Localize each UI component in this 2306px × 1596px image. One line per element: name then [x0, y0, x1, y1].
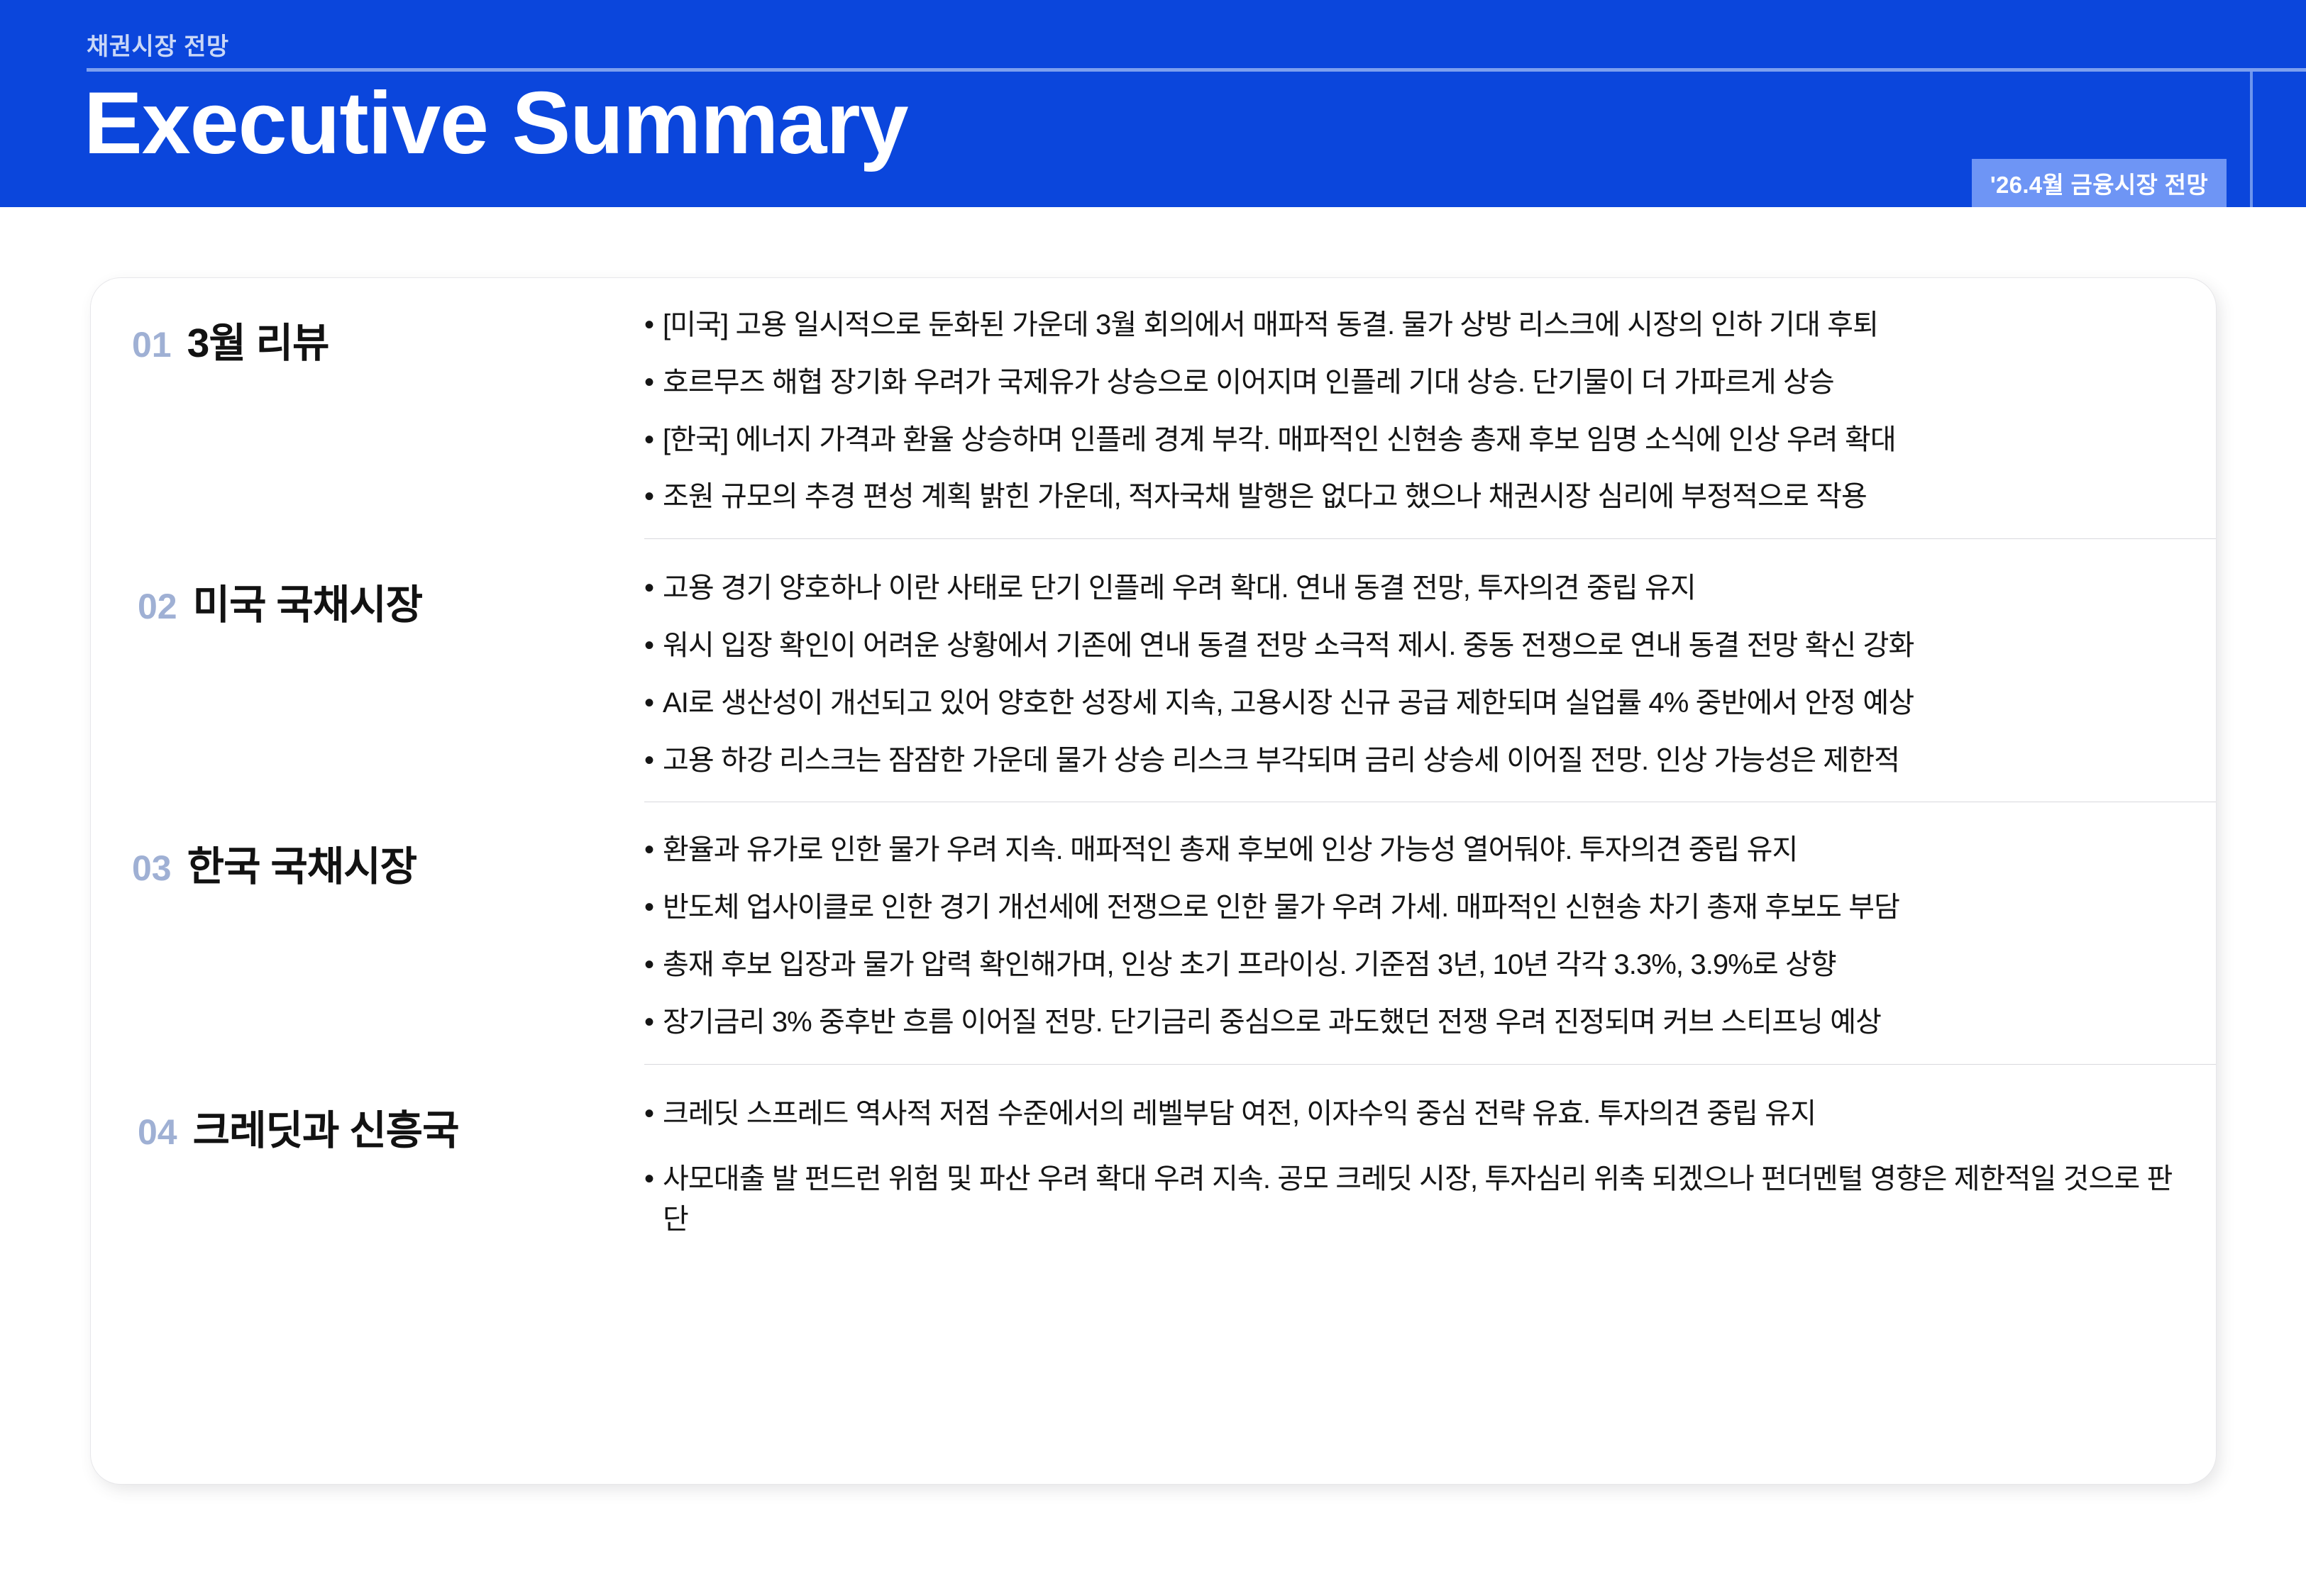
- bullet-dot-icon: •: [644, 945, 663, 985]
- bullet-dot-icon: •: [644, 305, 663, 345]
- bullet-text: 장기금리 3% 중후반 흐름 이어질 전망. 단기금리 중심으로 과도했던 전쟁…: [663, 1002, 2192, 1043]
- bullet-item: • 장기금리 3% 중후반 흐름 이어질 전망. 단기금리 중심으로 과도했던 …: [644, 1002, 2192, 1043]
- bullet-item: • 호르무즈 해협 장기화 우려가 국제유가 상승으로 이어지며 인플레 기대 …: [644, 362, 2192, 403]
- section-header-04: 04 크레딧과 신흥국: [91, 1064, 644, 1156]
- bullet-text: 반도체 업사이클로 인한 경기 개선세에 전쟁으로 인한 물가 우려 가세. 매…: [663, 887, 2192, 928]
- bullet-item: • 사모대출 발 펀드런 위험 및 파산 우려 확대 우려 지속. 공모 크레딧…: [644, 1159, 2192, 1240]
- bullet-text: AI로 생산성이 개선되고 있어 양호한 성장세 지속, 고용시장 신규 공급 …: [663, 683, 2192, 724]
- bullet-text: 고용 경기 양호하나 이란 사태로 단기 인플레 우려 확대. 연내 동결 전망…: [663, 568, 2192, 609]
- header-divider-rule: [87, 68, 2306, 72]
- section-bullets-03: • 환율과 유가로 인한 물가 우려 지속. 매파적인 총재 후보에 인상 가능…: [644, 802, 2216, 1063]
- bullet-item: • 고용 하강 리스크는 잠잠한 가운데 물가 상승 리스크 부각되며 금리 상…: [644, 741, 2192, 781]
- bullet-dot-icon: •: [644, 477, 663, 517]
- bullet-text: [미국] 고용 일시적으로 둔화된 가운데 3월 회의에서 매파적 동결. 물가…: [663, 305, 2192, 345]
- section-title: 3월 리뷰: [187, 311, 329, 369]
- section-title: 미국 국채시장: [193, 572, 422, 631]
- section-bullets-01: • [미국] 고용 일시적으로 둔화된 가운데 3월 회의에서 매파적 동결. …: [644, 278, 2216, 538]
- section-title: 크레딧과 신흥국: [193, 1098, 459, 1156]
- bullet-dot-icon: •: [644, 362, 663, 403]
- bullet-item: • 총재 후보 입장과 물가 압력 확인해가며, 인상 초기 프라이싱. 기준점…: [644, 945, 2192, 985]
- bullet-dot-icon: •: [644, 683, 663, 724]
- bullet-item: • AI로 생산성이 개선되고 있어 양호한 성장세 지속, 고용시장 신규 공…: [644, 683, 2192, 724]
- bullet-text: 워시 입장 확인이 어려운 상황에서 기존에 연내 동결 전망 소극적 제시. …: [663, 626, 2192, 666]
- summary-section-02: 02 미국 국채시장 • 고용 경기 양호하나 이란 사태로 단기 인플레 우려…: [91, 538, 2216, 802]
- bullet-item: • 고용 경기 양호하나 이란 사태로 단기 인플레 우려 확대. 연내 동결 …: [644, 568, 2192, 609]
- bullet-item: • [한국] 에너지 가격과 환율 상승하며 인플레 경계 부각. 매파적인 신…: [644, 420, 2192, 460]
- summary-section-01: 01 3월 리뷰 • [미국] 고용 일시적으로 둔화된 가운데 3월 회의에서…: [91, 278, 2216, 538]
- section-bullets-02: • 고용 경기 양호하나 이란 사태로 단기 인플레 우려 확대. 연내 동결 …: [644, 538, 2216, 802]
- bullet-item: • [미국] 고용 일시적으로 둔화된 가운데 3월 회의에서 매파적 동결. …: [644, 305, 2192, 345]
- section-number: 02: [138, 586, 177, 627]
- bullet-dot-icon: •: [644, 1002, 663, 1043]
- section-number: 04: [138, 1112, 177, 1153]
- bullet-item: • 조원 규모의 추경 편성 계획 밝힌 가운데, 적자국채 발행은 없다고 했…: [644, 477, 2192, 517]
- bullet-item: • 반도체 업사이클로 인한 경기 개선세에 전쟁으로 인한 물가 우려 가세.…: [644, 887, 2192, 928]
- bullet-item: • 워시 입장 확인이 어려운 상황에서 기존에 연내 동결 전망 소극적 제시…: [644, 626, 2192, 666]
- eyebrow-label: 채권시장 전망: [87, 27, 229, 62]
- page-title: Executive Summary: [84, 79, 908, 167]
- bullet-text: 고용 하강 리스크는 잠잠한 가운데 물가 상승 리스크 부각되며 금리 상승세…: [663, 741, 2192, 781]
- bullet-text: [한국] 에너지 가격과 환율 상승하며 인플레 경계 부각. 매파적인 신현송…: [663, 420, 2192, 460]
- bullet-dot-icon: •: [644, 568, 663, 609]
- summary-section-04: 04 크레딧과 신흥국 • 크레딧 스프레드 역사적 저점 수준에서의 레벨부담…: [91, 1064, 2216, 1287]
- bullet-dot-icon: •: [644, 887, 663, 928]
- bullet-text: 크레딧 스프레드 역사적 저점 수준에서의 레벨부담 여전, 이자수익 중심 전…: [663, 1094, 2192, 1134]
- section-header-01: 01 3월 리뷰: [91, 278, 644, 369]
- bullet-dot-icon: •: [644, 1159, 663, 1199]
- slide-root: 채권시장 전망 Executive Summary '26.4월 금융시장 전망…: [0, 0, 2306, 1596]
- section-number: 01: [132, 324, 172, 365]
- section-title: 한국 국채시장: [187, 834, 416, 892]
- section-header-02: 02 미국 국채시장: [91, 538, 644, 631]
- slide-header: 채권시장 전망 Executive Summary '26.4월 금융시장 전망: [0, 0, 2306, 207]
- bullet-dot-icon: •: [644, 420, 663, 460]
- summary-card: 01 3월 리뷰 • [미국] 고용 일시적으로 둔화된 가운데 3월 회의에서…: [91, 278, 2216, 1484]
- section-number: 03: [132, 848, 172, 889]
- section-bullets-04: • 크레딧 스프레드 역사적 저점 수준에서의 레벨부담 여전, 이자수익 중심…: [644, 1064, 2216, 1287]
- bullet-text: 호르무즈 해협 장기화 우려가 국제유가 상승으로 이어지며 인플레 기대 상승…: [663, 362, 2192, 403]
- bullet-item: • 크레딧 스프레드 역사적 저점 수준에서의 레벨부담 여전, 이자수익 중심…: [644, 1094, 2192, 1134]
- bullet-text: 조원 규모의 추경 편성 계획 밝힌 가운데, 적자국채 발행은 없다고 했으나…: [663, 477, 2192, 517]
- bullet-dot-icon: •: [644, 1094, 663, 1134]
- section-header-03: 03 한국 국채시장: [91, 802, 644, 892]
- bullet-dot-icon: •: [644, 626, 663, 666]
- period-badge: '26.4월 금융시장 전망: [1972, 159, 2227, 207]
- summary-section-03: 03 한국 국채시장 • 환율과 유가로 인한 물가 우려 지속. 매파적인 총…: [91, 802, 2216, 1063]
- bullet-text: 총재 후보 입장과 물가 압력 확인해가며, 인상 초기 프라이싱. 기준점 3…: [663, 945, 2192, 985]
- bullet-text: 환율과 유가로 인한 물가 우려 지속. 매파적인 총재 후보에 인상 가능성 …: [663, 830, 2192, 870]
- bullet-item: • 환율과 유가로 인한 물가 우려 지속. 매파적인 총재 후보에 인상 가능…: [644, 830, 2192, 870]
- bullet-dot-icon: •: [644, 741, 663, 781]
- bullet-dot-icon: •: [644, 830, 663, 870]
- bullet-text: 사모대출 발 펀드런 위험 및 파산 우려 확대 우려 지속. 공모 크레딧 시…: [663, 1159, 2192, 1240]
